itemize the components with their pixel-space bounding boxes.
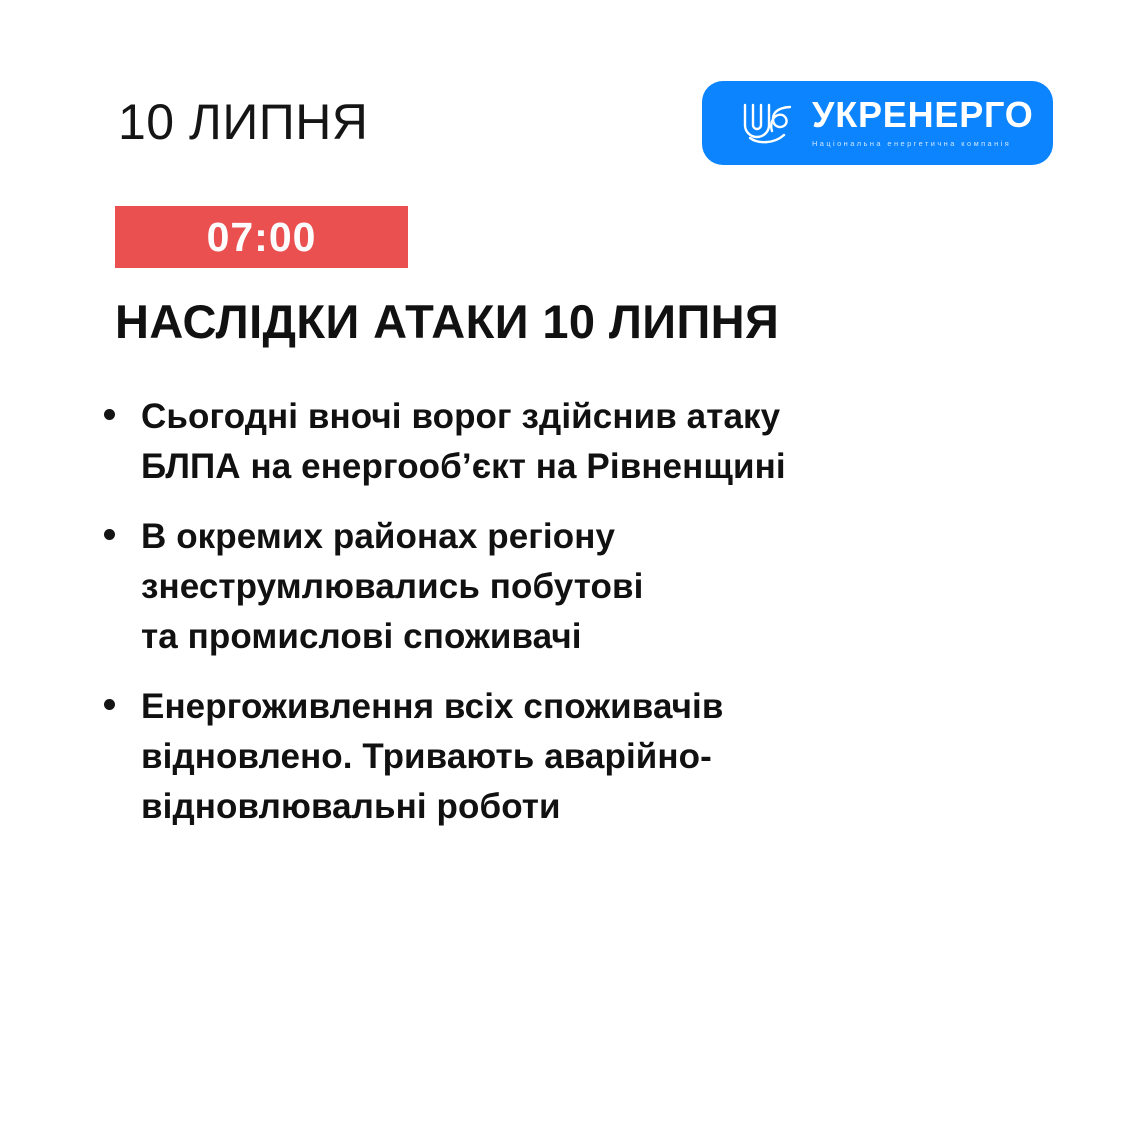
ukrenergo-logo: УКРЕНЕРГО Національна енергетична компан… [702,81,1053,165]
bullet-dot-icon [104,529,115,540]
list-item: Енергоживлення всіх споживачів відновлен… [104,682,934,832]
card-header: 10 ЛИПНЯ УКРЕНЕРГО Національна енергетич… [0,0,1134,185]
bullet-list: Сьогодні вночі ворог здійснив атаку БЛПА… [104,392,934,852]
list-item-text: Сьогодні вночі ворог здійснив атаку БЛПА… [141,392,786,492]
main-heading: НАСЛІДКИ АТАКИ 10 ЛИПНЯ [115,296,779,348]
logo-brand-name: УКРЕНЕРГО [812,97,1034,133]
list-item: Сьогодні вночі ворог здійснив атаку БЛПА… [104,392,934,492]
list-item-text: В окремих районах регіону знеструмлювали… [141,512,643,662]
infographic-card: 10 ЛИПНЯ УКРЕНЕРГО Національна енергетич… [0,0,1134,1134]
time-badge: 07:00 [115,206,408,268]
bullet-dot-icon [104,699,115,710]
list-item-text: Енергоживлення всіх споживачів відновлен… [141,682,724,832]
logo-text-block: УКРЕНЕРГО Національна енергетична компан… [812,97,1034,147]
time-badge-label: 07:00 [207,217,317,258]
bullet-dot-icon [104,409,115,420]
list-item: В окремих районах регіону знеструмлювали… [104,512,934,662]
ukrenergo-u-spiral-icon [740,99,798,145]
page-title: 10 ЛИПНЯ [118,97,368,147]
logo-tagline: Національна енергетична компанія [812,140,1034,147]
